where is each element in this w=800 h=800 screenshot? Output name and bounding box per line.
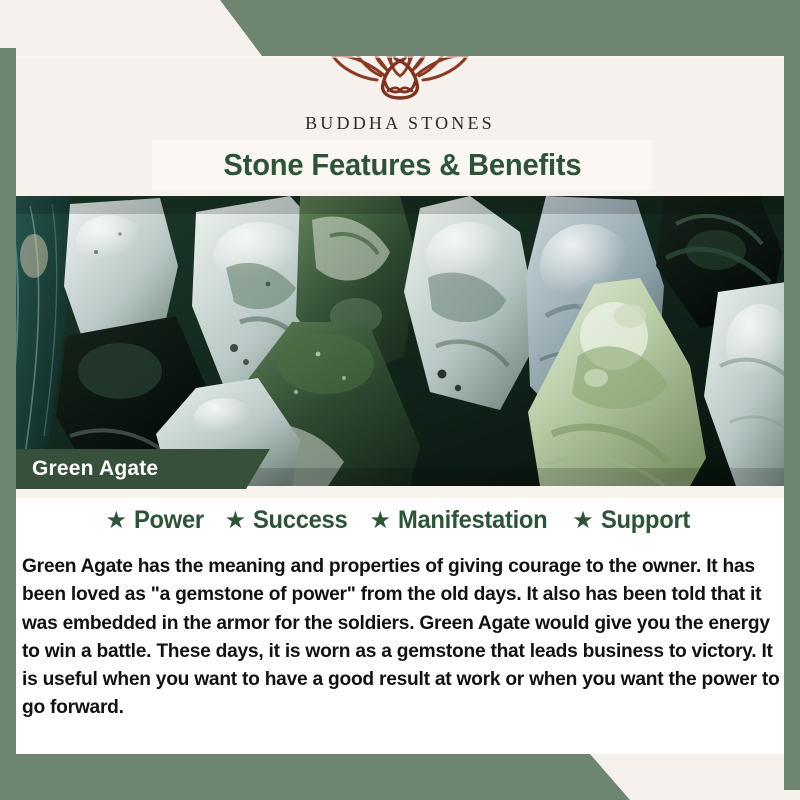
benefit-tag-power: ★ Power (106, 506, 208, 535)
frame-inner-rule (16, 56, 784, 58)
benefit-tag-label: Success (253, 506, 347, 535)
benefit-tag-label: Manifestation (398, 506, 547, 535)
benefit-tag-support: ★ Support (572, 506, 694, 535)
stone-name-banner: Green Agate (0, 449, 270, 489)
benefit-tag-label: Support (601, 506, 690, 535)
star-icon: ★ (225, 509, 247, 533)
page-title-band: Stone Features & Benefits (152, 140, 652, 190)
star-icon: ★ (369, 509, 391, 533)
stone-photo-illustration (0, 196, 800, 486)
brand-name: BUDDHA STONES (305, 113, 495, 134)
stone-info-card: BUDDHA STONES Stone Features & Benefits (0, 0, 800, 800)
stone-description-text: Green Agate has the meaning and properti… (22, 553, 782, 723)
frame-accent-right (784, 0, 800, 790)
stone-description: Green Agate has the meaning and properti… (22, 553, 782, 723)
star-icon: ★ (106, 509, 128, 533)
star-icon: ★ (572, 509, 594, 533)
benefit-tag-success: ★ Success (225, 506, 353, 535)
frame-accent-bottom-left (0, 754, 800, 800)
benefit-tag-label: Power (134, 506, 204, 535)
frame-accent-left (0, 48, 16, 800)
benefit-tag-manifestation: ★ Manifestation (369, 506, 555, 535)
page-title: Stone Features & Benefits (223, 147, 581, 183)
benefit-tag-list: ★ Power ★ Success ★ Manifestation ★ Supp… (16, 506, 784, 535)
stone-name: Green Agate (0, 457, 158, 481)
stone-photo (0, 196, 800, 486)
